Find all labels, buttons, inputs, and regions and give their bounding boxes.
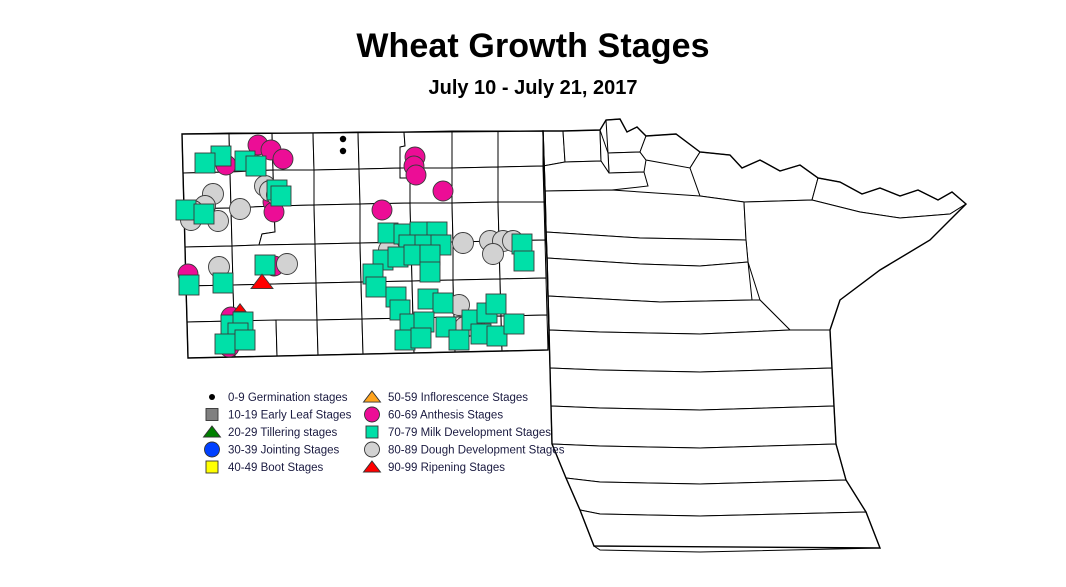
map-marker-dough	[230, 199, 251, 220]
map-marker-anthesis	[433, 181, 453, 201]
map-marker-dough	[483, 244, 504, 265]
map-marker-milk	[195, 153, 215, 173]
legend-symbol-dough-icon	[365, 442, 380, 457]
map-marker-milk	[255, 255, 275, 275]
legend-label: 60-69 Anthesis Stages	[388, 410, 503, 422]
map-marker-milk	[504, 314, 524, 334]
map-marker-milk	[246, 156, 266, 176]
legend-symbol-milk-icon	[366, 426, 378, 438]
legend-symbol-boot-icon	[206, 461, 218, 473]
map-marker-milk	[179, 275, 199, 295]
map-marker-milk	[213, 273, 233, 293]
legend-label: 80-89 Dough Development Stages	[388, 445, 565, 457]
map-marker-milk	[271, 186, 291, 206]
map-marker-milk	[486, 294, 506, 314]
map-marker-milk	[411, 328, 431, 348]
legend-label: 40-49 Boot Stages	[228, 462, 324, 474]
minnesota-counties	[543, 119, 966, 552]
legend-symbol-ripening-icon	[364, 461, 381, 472]
legend-symbol-jointing-icon	[205, 442, 220, 457]
map-marker-milk	[235, 330, 255, 350]
map-marker-dough	[453, 233, 474, 254]
map-marker-anthesis	[372, 200, 392, 220]
map-canvas: 0-9 Germination stages10-19 Early Leaf S…	[0, 0, 1066, 587]
legend-symbol-tillering-icon	[204, 426, 221, 437]
wheat-growth-stages-map-figure: Wheat Growth Stages July 10 - July 21, 2…	[0, 0, 1066, 587]
legend-label: 10-19 Early Leaf Stages	[228, 410, 352, 422]
legend-symbol-anthesis-icon	[365, 407, 380, 422]
map-marker-milk	[194, 204, 214, 224]
legend-label: 50-59 Inflorescence Stages	[388, 392, 528, 404]
map-marker-dough	[277, 254, 298, 275]
map-marker-milk	[420, 262, 440, 282]
legend-symbol-early_leaf-icon	[206, 409, 218, 421]
map-marker-milk	[366, 277, 386, 297]
legend-label: 0-9 Germination stages	[228, 392, 348, 404]
map-marker-germination	[340, 148, 346, 154]
county-boundaries-layer	[182, 119, 966, 552]
map-marker-anthesis	[273, 149, 293, 169]
map-marker-milk	[514, 251, 534, 271]
map-marker-milk	[176, 200, 196, 220]
legend-label: 20-29 Tillering stages	[228, 427, 338, 439]
map-marker-milk	[449, 330, 469, 350]
legend-label: 70-79 Milk Development Stages	[388, 427, 551, 439]
map-marker-germination	[340, 136, 346, 142]
map-marker-milk	[433, 293, 453, 313]
map-marker-milk	[215, 334, 235, 354]
legend-label: 90-99 Ripening Stages	[388, 462, 505, 474]
legend-symbol-inflorescence-icon	[364, 391, 381, 402]
legend-symbol-germination-icon	[209, 394, 215, 400]
legend-label: 30-39 Jointing Stages	[228, 445, 339, 457]
map-marker-anthesis	[406, 165, 426, 185]
map-legend: 0-9 Germination stages10-19 Early Leaf S…	[204, 391, 565, 474]
